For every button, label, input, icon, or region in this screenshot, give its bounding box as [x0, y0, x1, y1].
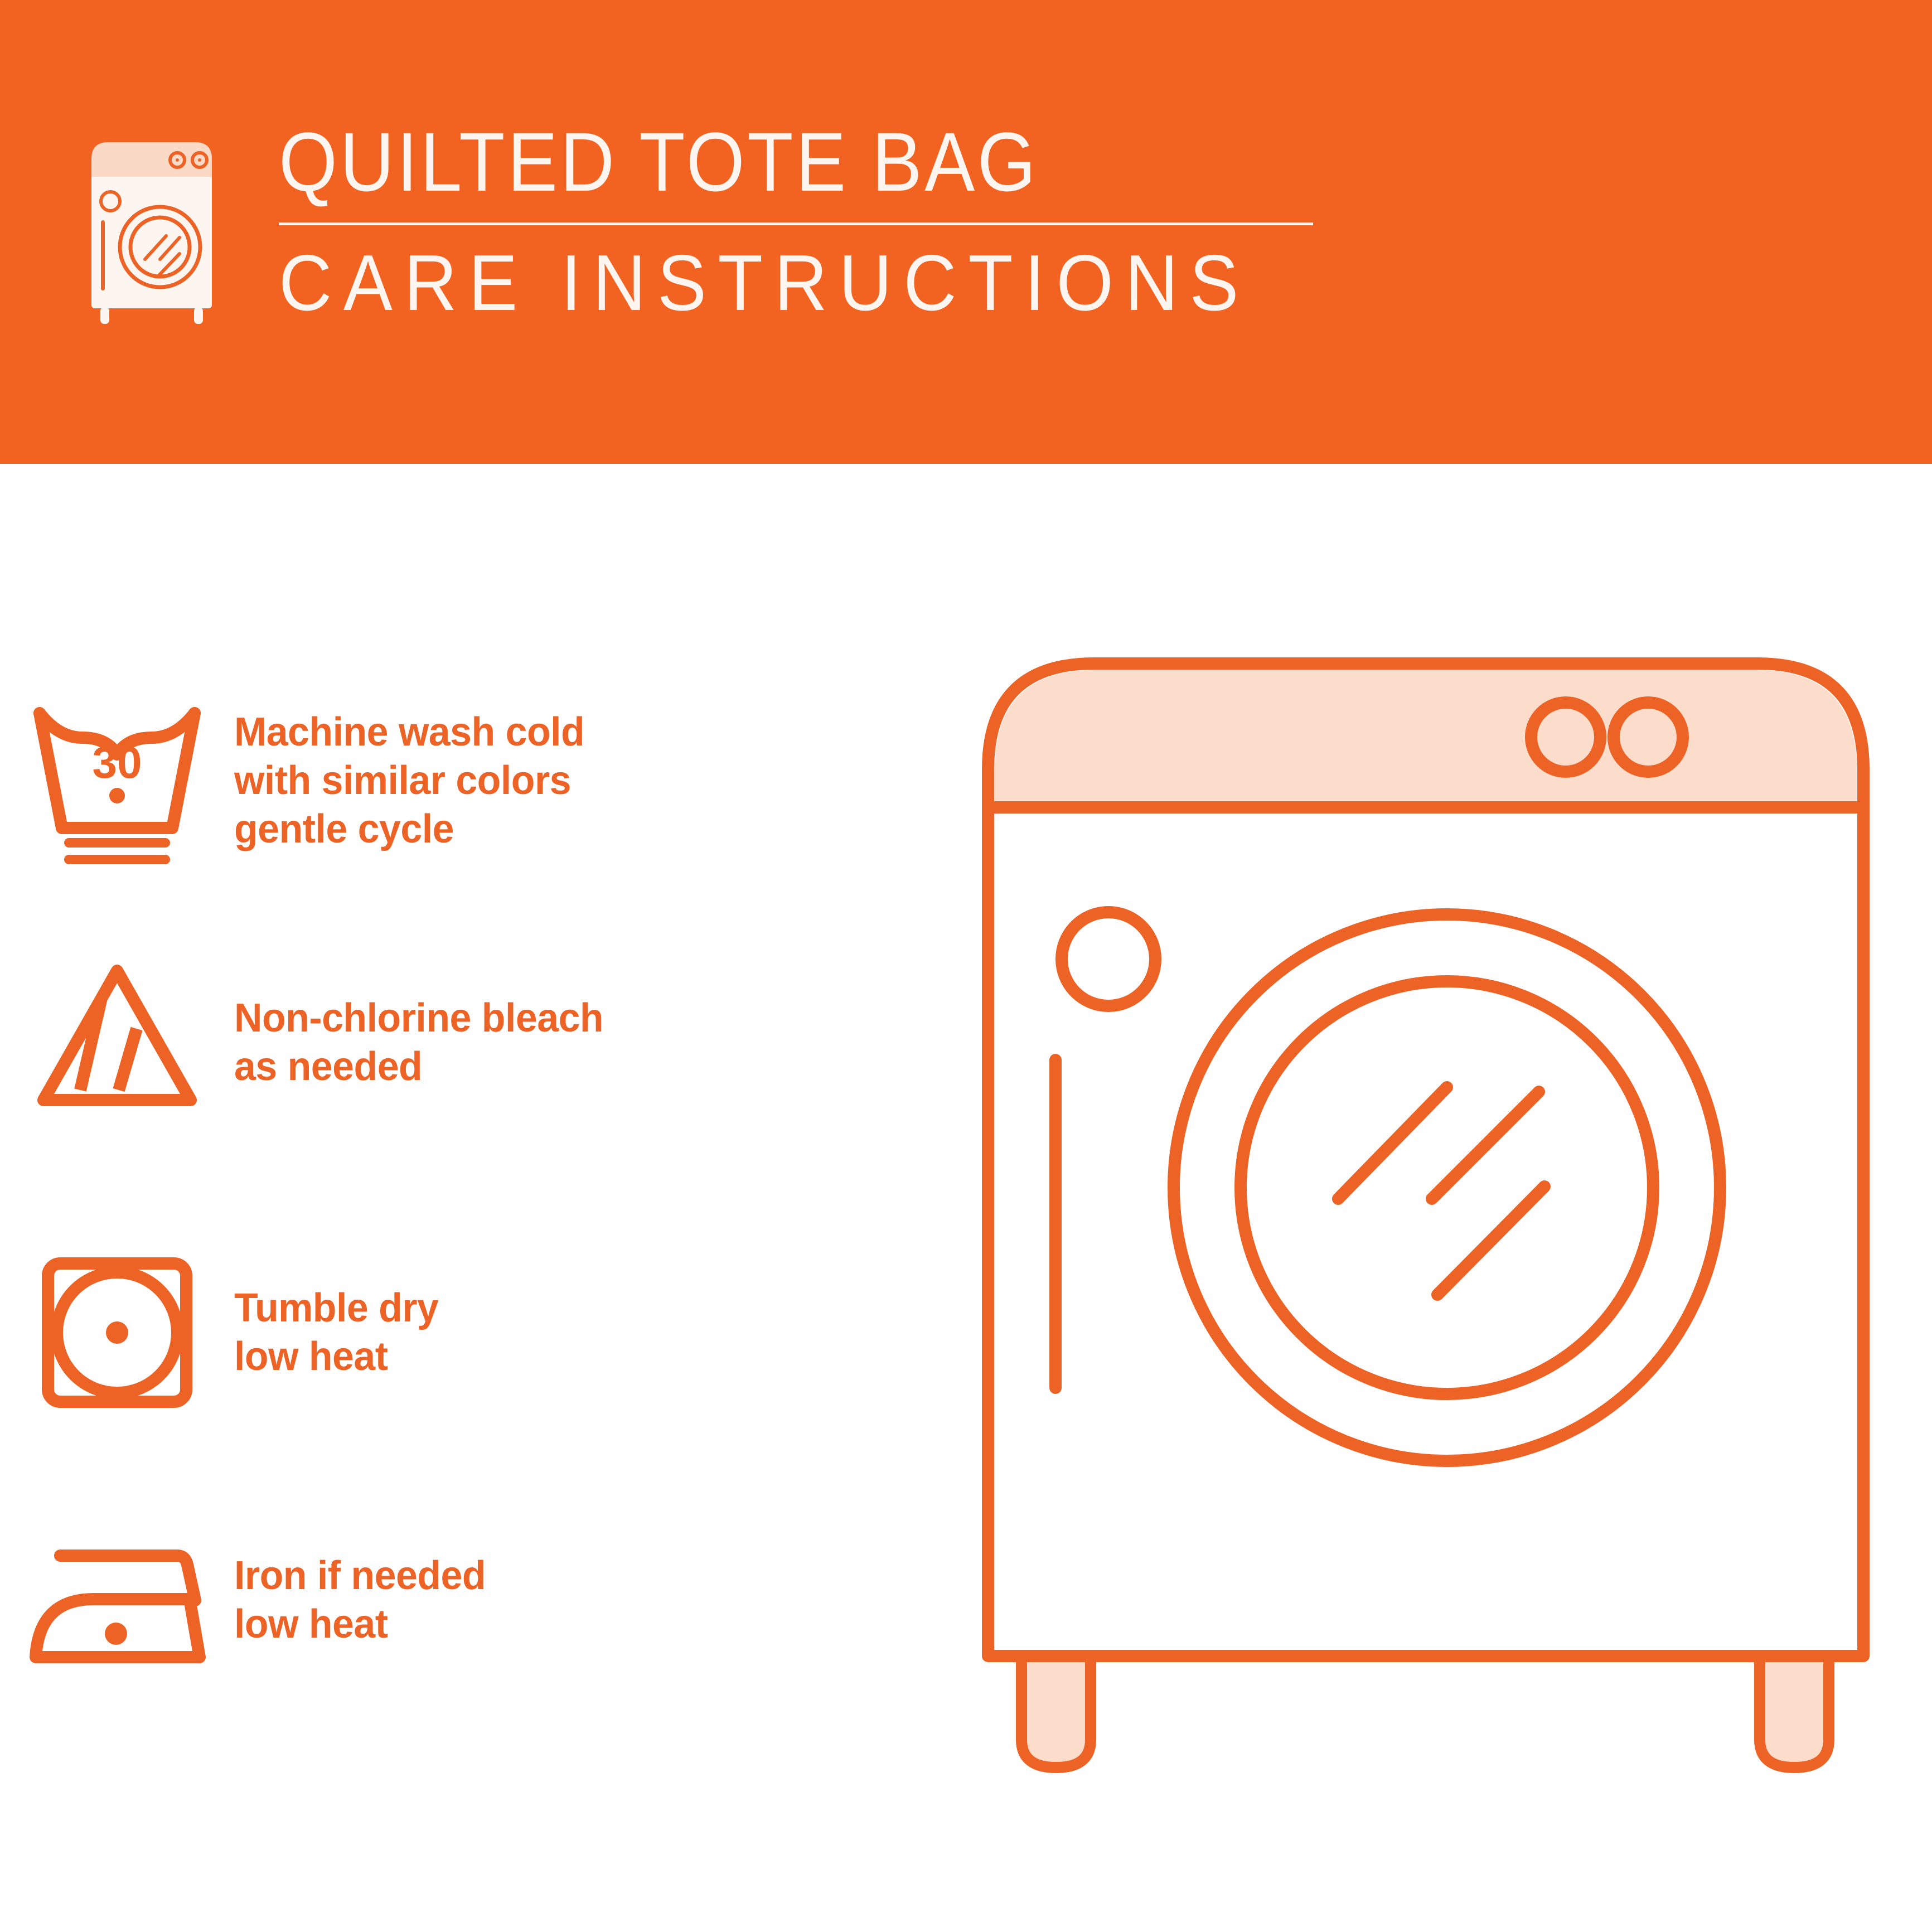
- wash-temp-label: 30: [93, 738, 142, 787]
- care-row-bleach: Non-chlorine bleach as needed: [0, 931, 948, 1154]
- dry-heat-dot-icon: [106, 1321, 128, 1344]
- care-row-iron: Iron if needed low heat: [0, 1489, 948, 1712]
- knob-right[interactable]: [1614, 703, 1683, 772]
- knob-left[interactable]: [1531, 703, 1600, 772]
- door-handle-line: [1049, 1054, 1062, 1394]
- care-text-iron: Iron if needed low heat: [234, 1552, 486, 1649]
- iron-heat-dot-icon: [105, 1623, 127, 1645]
- gentle-bar-2: [64, 855, 170, 864]
- care-symbol-slot: [0, 1517, 234, 1684]
- wash-basin-30-gentle-icon: 30: [25, 689, 209, 873]
- control-panel: [995, 670, 1857, 807]
- care-text-bleach: Non-chlorine bleach as needed: [234, 994, 603, 1091]
- bleach-stripe-2: [119, 1029, 137, 1090]
- foot-left: [1021, 1653, 1091, 1768]
- foot-right: [1760, 1653, 1829, 1768]
- page-title: QUILTED TOTE BAG: [279, 120, 1219, 204]
- tumble-dry-low-heat-icon: [33, 1249, 201, 1416]
- washing-machine-icon: [84, 135, 229, 325]
- triangle-non-chlorine-bleach-icon: [25, 951, 209, 1135]
- header-banner: QUILTED TOTE BAG CARE INSTRUCTIONS: [0, 0, 1932, 464]
- page-subtitle: CARE INSTRUCTIONS: [279, 242, 1250, 325]
- care-symbol-slot: [0, 951, 234, 1135]
- care-row-machine-wash: 30 Machine wash cold with similar colors…: [0, 658, 948, 903]
- care-symbol-slot: [0, 1249, 234, 1416]
- title-divider: [279, 222, 1313, 225]
- large-washing-machine-illustration: [970, 630, 1885, 1873]
- care-row-tumble-dry: Tumble dry low heat: [0, 1221, 948, 1444]
- header-content: QUILTED TOTE BAG CARE INSTRUCTIONS: [84, 120, 1344, 354]
- care-text-machine-wash: Machine wash cold with similar colors ge…: [234, 708, 584, 854]
- gentle-bar-1: [64, 838, 170, 848]
- care-symbol-slot: 30: [0, 689, 234, 873]
- wash-dot-icon: [109, 788, 125, 803]
- care-text-tumble-dry: Tumble dry low heat: [234, 1284, 438, 1381]
- header-title-block: QUILTED TOTE BAG CARE INSTRUCTIONS: [279, 120, 1323, 325]
- iron-low-heat-icon: [22, 1517, 212, 1684]
